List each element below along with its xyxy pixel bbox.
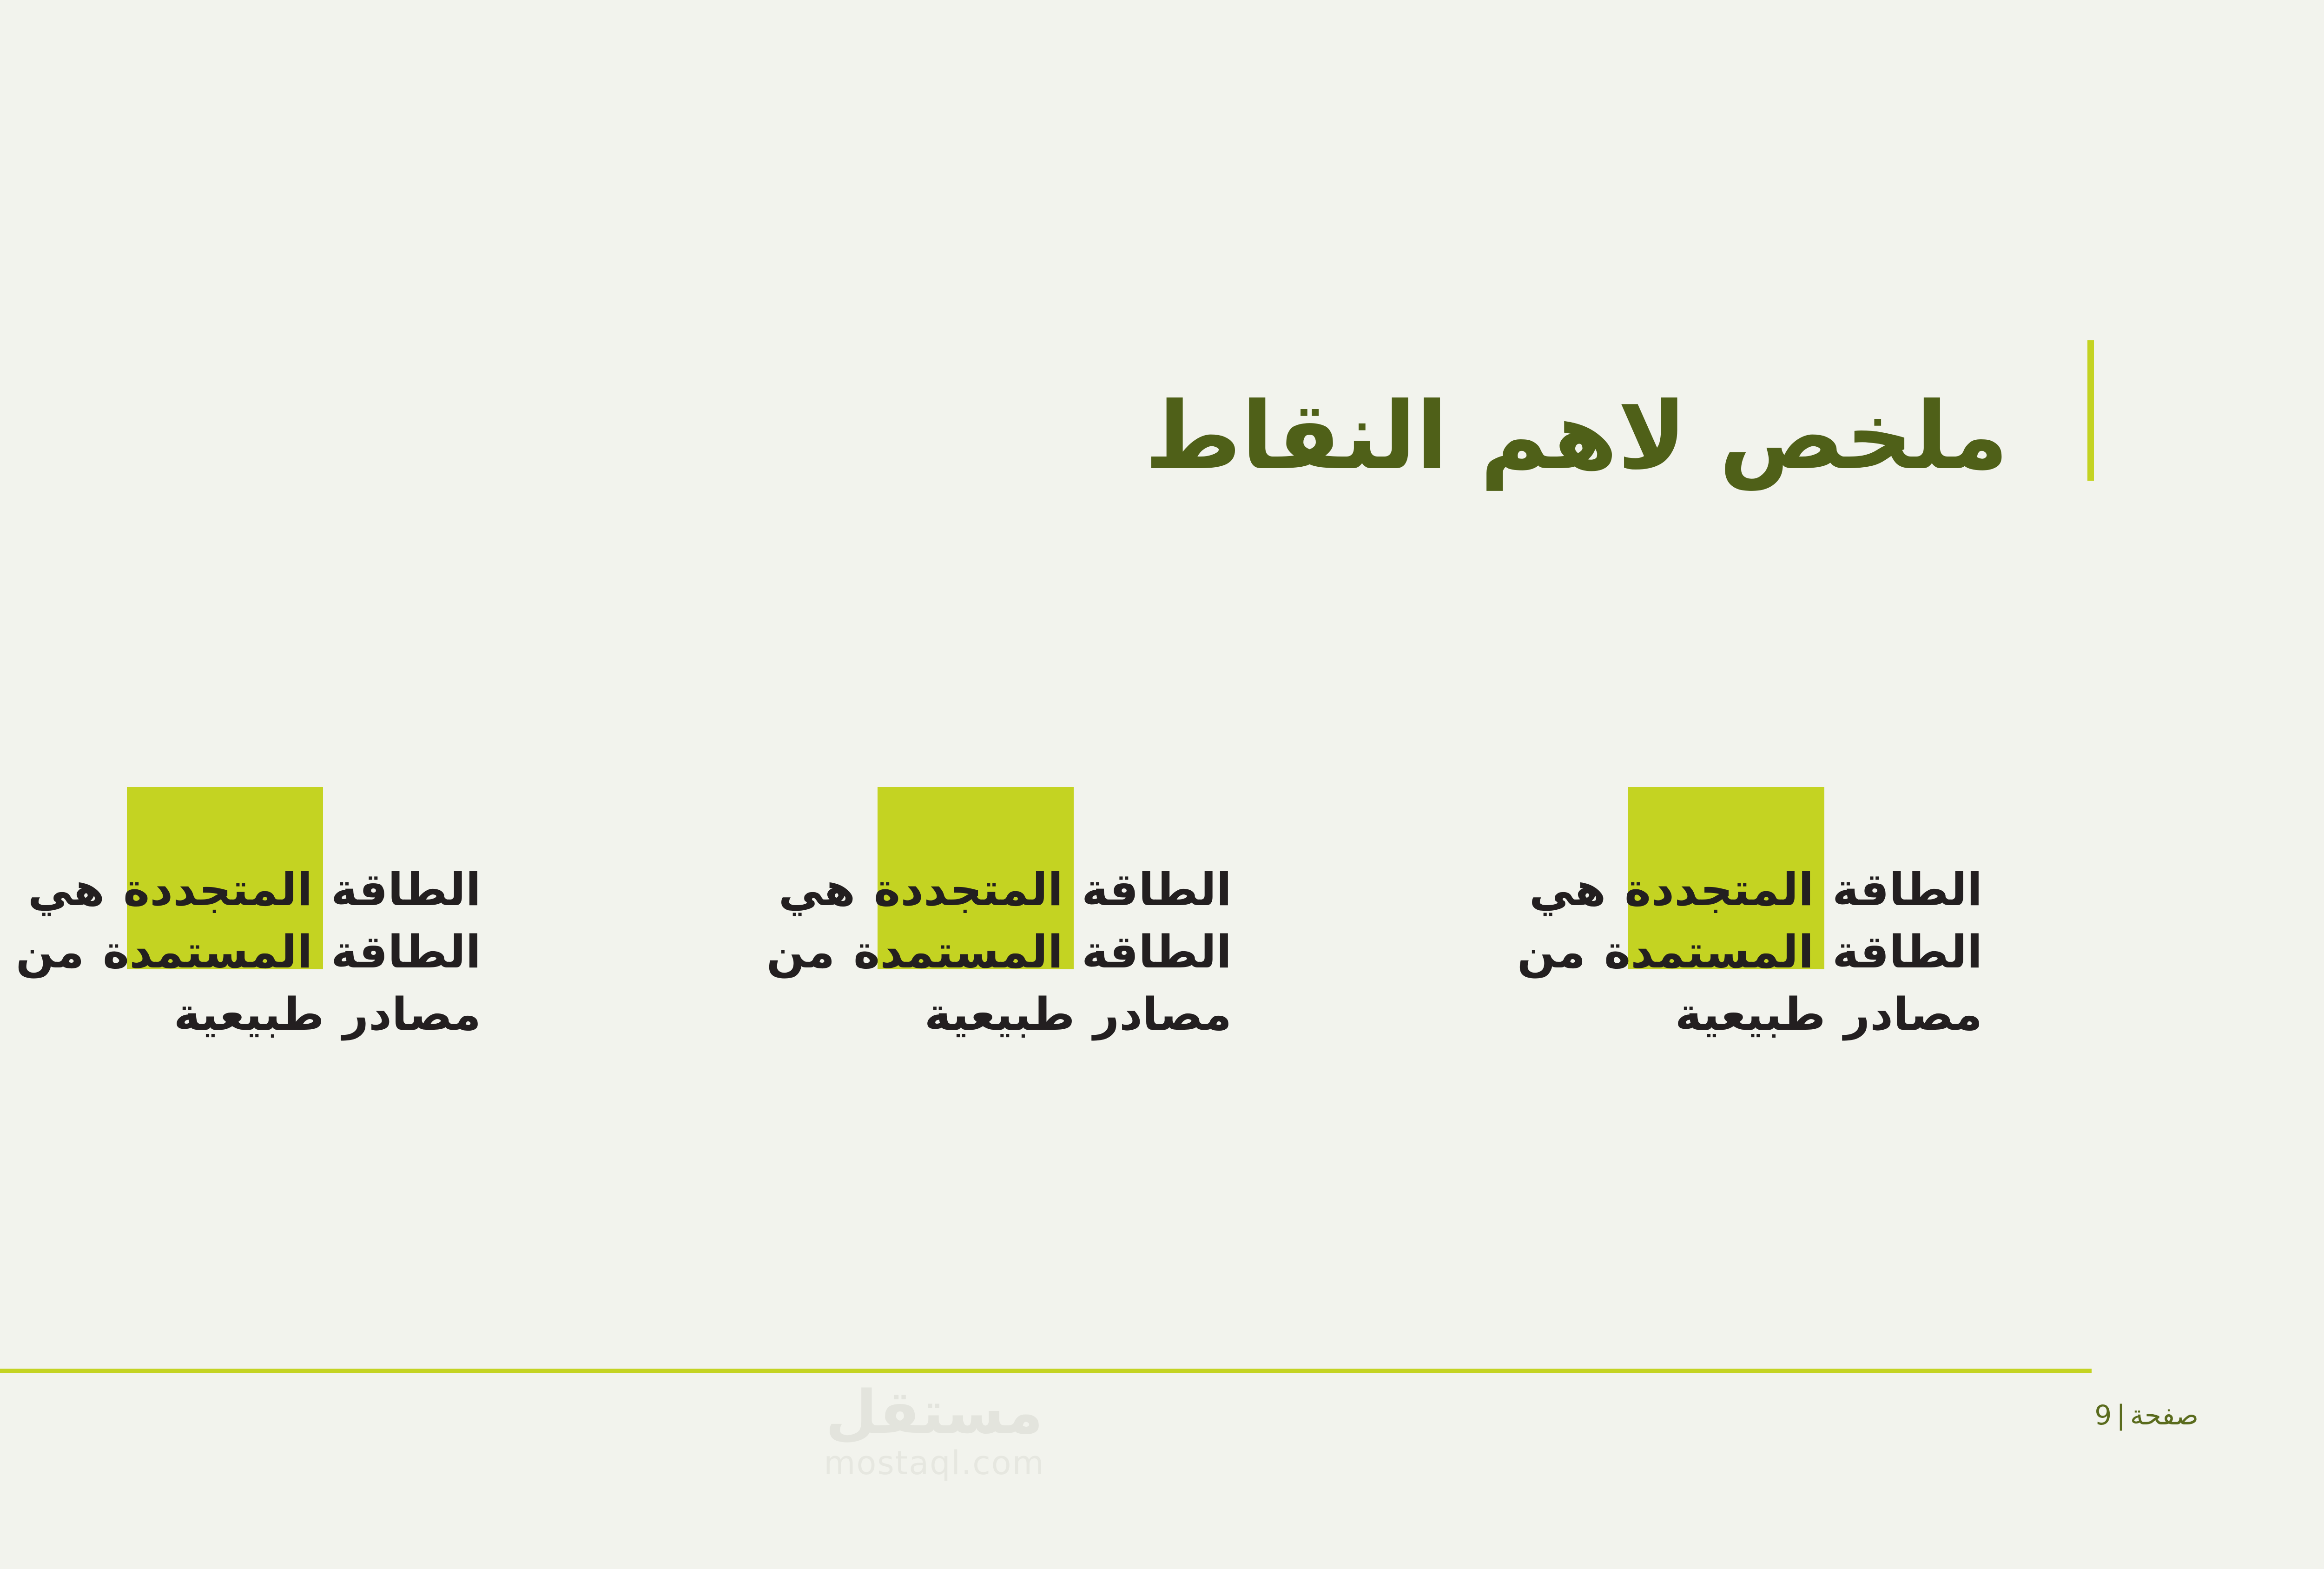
summary-point-2: الطاقة المتجددة هي الطاقة المستمدة من مص… <box>627 786 1232 1046</box>
summary-points-row: الطاقة المتجددة هي الطاقة المستمدة من مص… <box>0 786 2324 1111</box>
page-title: ملخص لاهم النقاط <box>1145 388 2008 485</box>
point-text: الطاقة المتجددة هي الطاقة المستمدة من مص… <box>0 786 481 1046</box>
footer-divider-rule <box>0 1369 2092 1373</box>
summary-point-1: الطاقة المتجددة هي الطاقة المستمدة من مص… <box>0 786 481 1046</box>
footer-page-indicator: صفحة|9 <box>2094 1399 2199 1431</box>
point-text: الطاقة المتجددة هي الطاقة المستمدة من مص… <box>1378 786 1982 1046</box>
summary-point-3: الطاقة المتجددة هي الطاقة المستمدة من مص… <box>1378 786 1982 1046</box>
watermark-arabic-logo: مستقل <box>748 1383 1120 1443</box>
slide-canvas: ملخص لاهم النقاط الطاقة المتجددة هي الطا… <box>0 0 2324 1569</box>
slide-header: ملخص لاهم النقاط <box>0 325 2324 502</box>
title-accent-bar <box>2087 340 2094 481</box>
watermark-domain-text: mostaql.com <box>748 1445 1120 1481</box>
mostaql-watermark: مستقل mostaql.com <box>748 1383 1120 1481</box>
footer-separator: | <box>2112 1399 2130 1431</box>
footer-page-number: 9 <box>2094 1399 2112 1431</box>
footer-page-label: صفحة <box>2130 1399 2199 1431</box>
point-text: الطاقة المتجددة هي الطاقة المستمدة من مص… <box>627 786 1232 1046</box>
